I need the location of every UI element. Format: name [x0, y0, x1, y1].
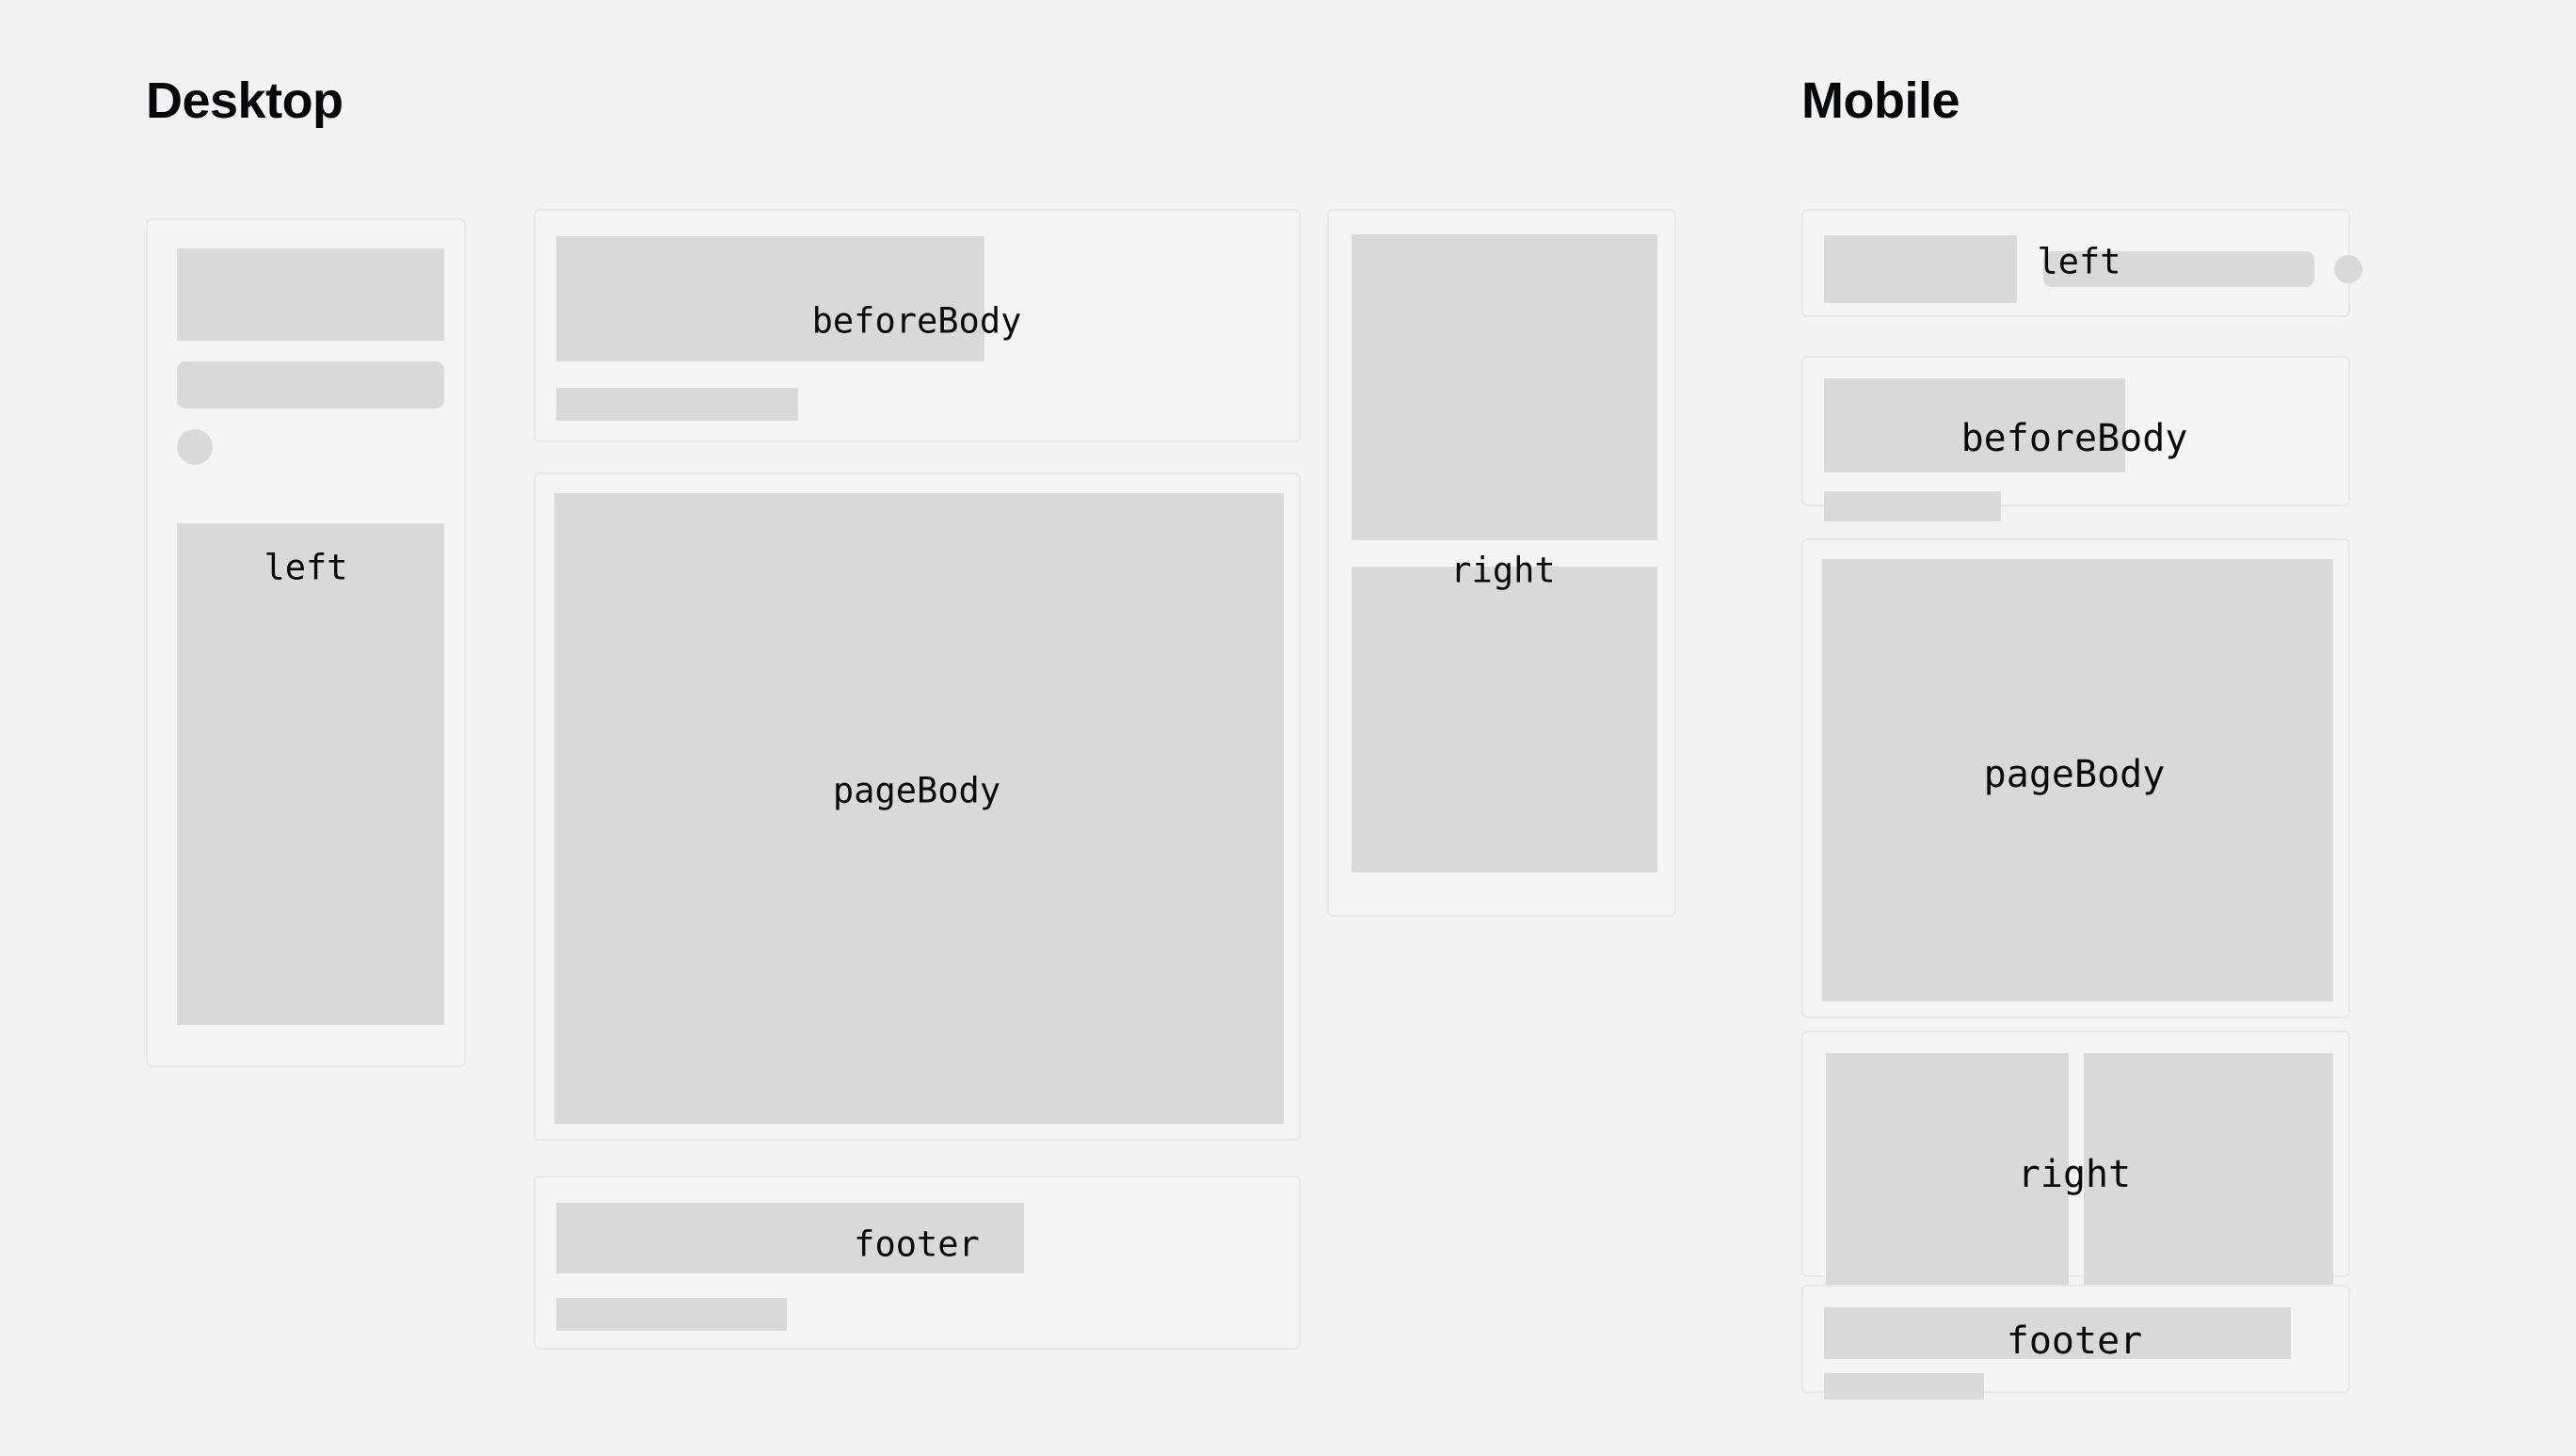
slot-label-right: right [1450, 553, 1555, 588]
slot-label-pagebody: pageBody [1984, 756, 2166, 793]
slot-label-footer: footer [2007, 1322, 2143, 1360]
desktop-section-title: Desktop [146, 75, 344, 126]
slot-label-left: left [264, 551, 347, 585]
skeleton-panel [1352, 234, 1657, 540]
skeleton-bar [177, 361, 444, 408]
slot-label-beforebody: beforeBody [1961, 420, 2188, 457]
slot-label-pagebody: pageBody [833, 774, 1000, 808]
slot-label-beforebody: beforeBody [812, 304, 1022, 339]
skeleton-bar [556, 1298, 787, 1331]
skeleton-block [556, 236, 984, 361]
skeleton-bar [1824, 491, 2001, 521]
skeleton-bar [1824, 1373, 1984, 1400]
skeleton-panel [1352, 567, 1657, 872]
slot-label-footer: footer [854, 1227, 980, 1262]
desktop-left-sidebar-card[interactable] [146, 218, 466, 1067]
skeleton-bar [556, 388, 798, 421]
mobile-section-title: Mobile [1801, 75, 1960, 126]
skeleton-block [177, 248, 444, 341]
skeleton-avatar-circle [177, 429, 213, 465]
skeleton-block [1824, 235, 2017, 303]
slot-label-left: left [2037, 245, 2120, 280]
skeleton-panel [177, 523, 444, 1025]
slot-label-right: right [2018, 1156, 2131, 1193]
skeleton-avatar-circle [2334, 255, 2362, 283]
